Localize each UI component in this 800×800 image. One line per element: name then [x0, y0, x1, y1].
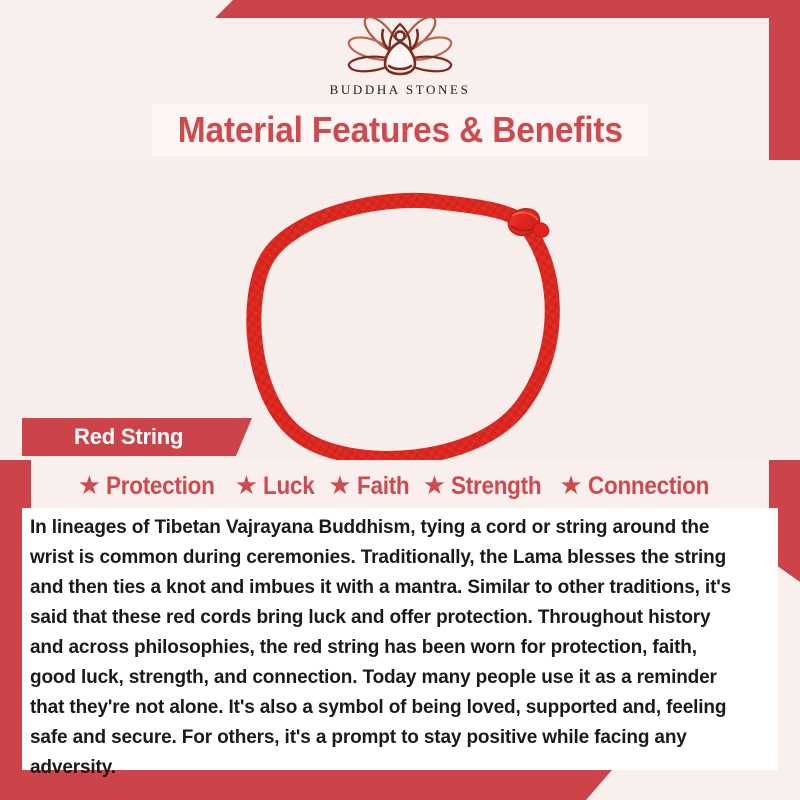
benefit-item: ★ Strength [419, 472, 556, 501]
benefits-row: ★ Protection ★ Luck ★ Faith ★ Strength ★… [24, 466, 776, 506]
poster-root: BUDDHA STONES Material Features & Benefi… [0, 0, 800, 800]
brand-logo: BUDDHA STONES [0, 8, 800, 98]
benefit-label: Protection [106, 472, 215, 501]
star-icon: ★ [78, 472, 101, 498]
red-string-bracelet-illustration [0, 160, 800, 460]
lotus-meditation-icon [337, 8, 463, 80]
star-icon: ★ [235, 472, 258, 498]
brand-name: BUDDHA STONES [330, 82, 471, 98]
description-text: In lineages of Tibetan Vajrayana Buddhis… [30, 512, 744, 782]
star-icon: ★ [328, 472, 351, 498]
benefit-item: ★ Luck [231, 472, 324, 501]
star-icon: ★ [423, 472, 446, 498]
benefit-label: Luck [263, 472, 314, 501]
benefit-label: Connection [588, 472, 709, 501]
benefit-label: Strength [451, 472, 541, 501]
product-label: Red String [74, 424, 183, 450]
benefit-item: ★ Protection [74, 472, 231, 501]
product-label-banner: Red String [22, 418, 252, 456]
description-panel: In lineages of Tibetan Vajrayana Buddhis… [22, 508, 778, 770]
benefit-label: Faith [357, 472, 409, 501]
benefit-item: ★ Connection [555, 472, 726, 501]
benefit-item: ★ Faith [324, 472, 419, 501]
hero-product-image [0, 160, 800, 460]
star-icon: ★ [559, 472, 582, 498]
bracelet-loop-shade [254, 200, 552, 458]
page-title: Material Features & Benefits [177, 109, 622, 151]
title-banner: Material Features & Benefits [152, 104, 648, 156]
